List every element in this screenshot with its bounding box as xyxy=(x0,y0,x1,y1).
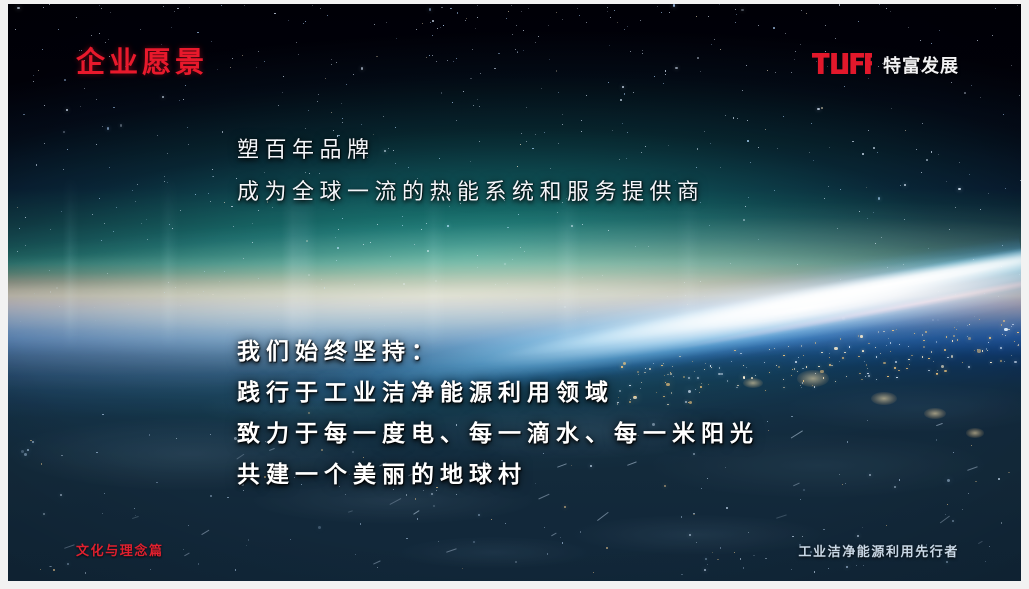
presentation-slide: 企业愿景 特富发展 xyxy=(8,4,1021,581)
brand-logo: 特富发展 xyxy=(812,52,959,78)
commitment-line: 共建一个美丽的地球村 xyxy=(237,455,759,496)
commitment-line: 我们始终坚持： xyxy=(237,332,759,373)
page-title: 企业愿景 xyxy=(76,48,208,77)
brand-name-cn: 特富发展 xyxy=(883,52,959,78)
commitment-line: 践行于工业洁净能源利用领域 xyxy=(237,373,759,414)
footer-tagline: 工业洁净能源利用先行者 xyxy=(798,541,959,560)
slide-frame: 企业愿景 特富发展 xyxy=(0,0,1029,589)
vision-line: 成为全球一流的热能系统和服务提供商 xyxy=(237,172,705,214)
tuff-wordmark-icon xyxy=(812,53,872,78)
commitment-statement: 我们始终坚持： 践行于工业洁净能源利用领域 致力于每一度电、每一滴水、每一米阳光… xyxy=(237,332,759,496)
footer-section-label: 文化与理念篇 xyxy=(76,540,164,559)
commitment-line: 致力于每一度电、每一滴水、每一米阳光 xyxy=(237,414,759,455)
vision-line: 塑百年品牌 xyxy=(237,130,705,172)
vision-statement: 塑百年品牌 成为全球一流的热能系统和服务提供商 xyxy=(237,130,705,214)
